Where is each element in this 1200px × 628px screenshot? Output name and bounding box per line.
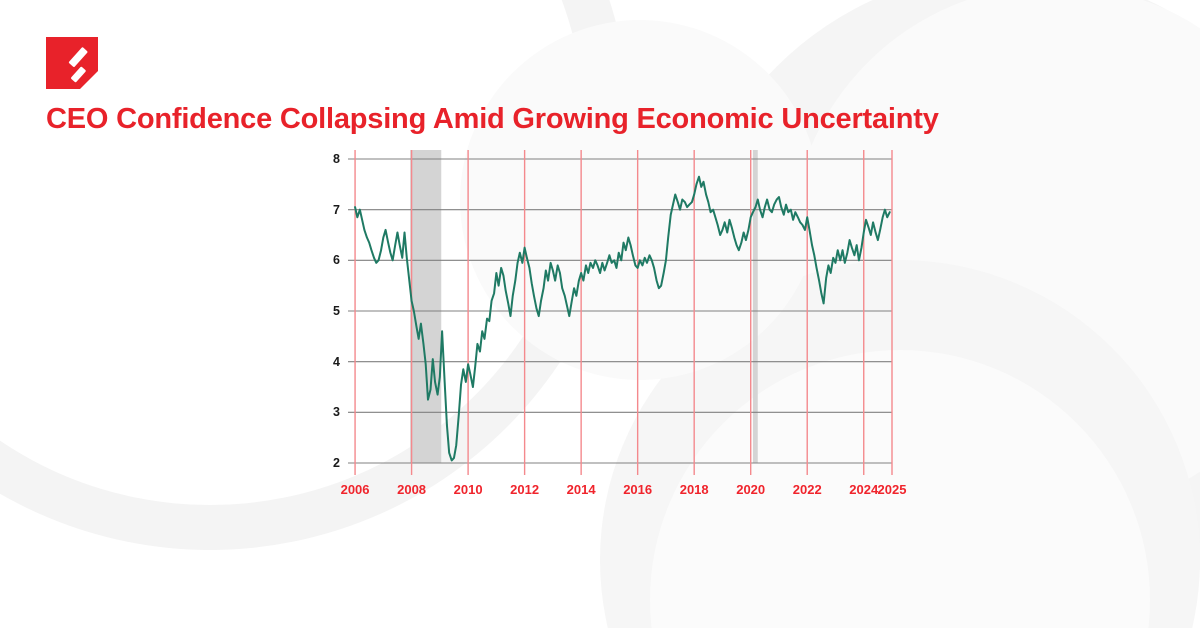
x-axis-tick-label: 2010	[454, 482, 483, 497]
y-axis-tick-label: 8	[320, 152, 340, 166]
infographic-card: CEO Confidence Collapsing Amid Growing E…	[0, 0, 1200, 628]
y-axis-tick-label: 3	[320, 405, 340, 419]
line-chart: 2345678 20062008201020122014201620182020…	[300, 140, 940, 510]
recession-band	[410, 150, 441, 463]
x-axis-tick-label: 2022	[793, 482, 822, 497]
y-axis-tick-label: 5	[320, 304, 340, 318]
document-pencil-logo-icon	[46, 37, 98, 89]
page-title: CEO Confidence Collapsing Amid Growing E…	[46, 103, 939, 136]
x-axis-tick-label: 2014	[567, 482, 596, 497]
y-axis-tick-label: 2	[320, 456, 340, 470]
x-axis-tick-label: 2020	[736, 482, 765, 497]
x-axis-tick-label: 2025	[878, 482, 907, 497]
x-axis-tick-label: 2008	[397, 482, 426, 497]
y-axis-tick-label: 6	[320, 253, 340, 267]
x-axis-tick-label: 2006	[341, 482, 370, 497]
y-axis-tick-label: 7	[320, 203, 340, 217]
x-axis-tick-label: 2016	[623, 482, 652, 497]
y-axis-tick-label: 4	[320, 355, 340, 369]
x-axis-tick-label: 2024	[849, 482, 878, 497]
chart-canvas	[300, 140, 940, 510]
x-axis-tick-label: 2018	[680, 482, 709, 497]
x-axis-tick-label: 2012	[510, 482, 539, 497]
recession-band	[753, 150, 758, 463]
